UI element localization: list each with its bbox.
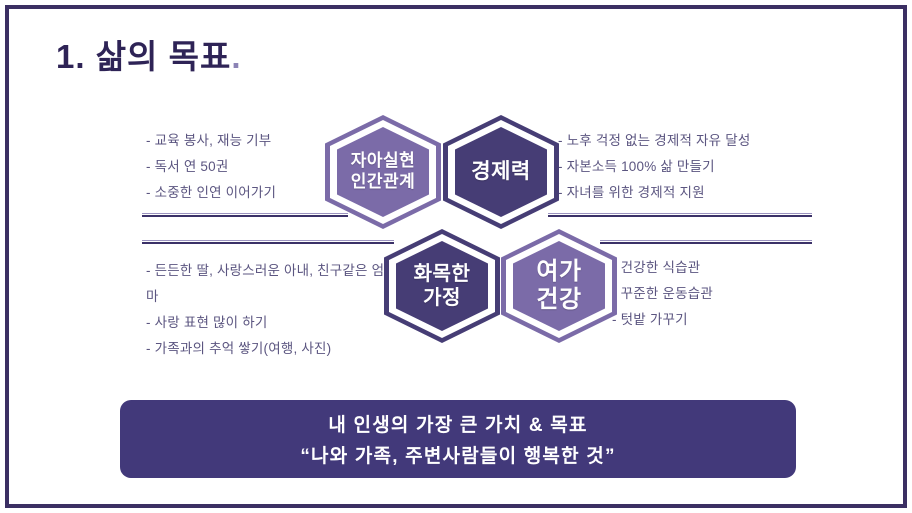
hexagon-inner-ring: 경제력 — [448, 120, 554, 224]
hexagon-label: 자아실현 인간관계 — [351, 151, 416, 192]
page-title-period: . — [231, 38, 241, 75]
hexagon-core: 경제력 — [455, 127, 547, 217]
hexagon-inner-ring: 화목한 가정 — [389, 234, 495, 338]
notes-bottom-right: - 건강한 식습관 - 꾸준한 운동습관 - 텃밭 가꾸기 — [612, 255, 812, 333]
note-line: - 소중한 인연 이어가기 — [146, 180, 346, 206]
hexagon-label: 화목한 가정 — [414, 262, 471, 311]
note-line: - 가족과의 추억 쌓기(여행, 사진) — [146, 336, 396, 362]
hexagon-inner-ring: 여가 건강 — [506, 234, 612, 338]
summary-banner: 내 인생의 가장 큰 가치 & 목표 “나와 가족, 주변사람들이 행복한 것” — [120, 400, 796, 478]
hexagon-economic-power[interactable]: 경제력 — [443, 115, 559, 229]
page-title-text: 1. 삶의 목표 — [56, 38, 231, 75]
note-line: - 교육 봉사, 재능 기부 — [146, 128, 346, 154]
presentation-slide: 1. 삶의 목표. - 교육 봉사, 재능 기부 - 독서 연 50권 - 소중… — [0, 0, 912, 513]
page-title: 1. 삶의 목표. — [56, 30, 241, 78]
hexagon-core: 여가 건강 — [513, 241, 605, 331]
divider-top-right — [548, 213, 812, 217]
hexagon-leisure-health[interactable]: 여가 건강 — [501, 229, 617, 343]
hexagon-core: 화목한 가정 — [396, 241, 488, 331]
note-line: - 든든한 딸, 사랑스러운 아내, 친구같은 엄마 — [146, 258, 396, 310]
summary-line-1: 내 인생의 가장 큰 가치 & 목표 — [328, 410, 587, 437]
hexagon-label: 여가 건강 — [536, 258, 581, 315]
hexagon-core: 자아실현 인간관계 — [337, 127, 429, 217]
hexagon-inner-ring: 자아실현 인간관계 — [330, 120, 436, 224]
divider-bottom-left — [142, 240, 394, 244]
note-line: - 노후 걱정 없는 경제적 자유 달성 — [558, 128, 828, 154]
note-line: - 자본소득 100% 삶 만들기 — [558, 154, 828, 180]
note-line: - 꾸준한 운동습관 — [612, 281, 812, 307]
summary-line-2: “나와 가족, 주변사람들이 행복한 것” — [300, 441, 615, 468]
divider-bottom-right — [600, 240, 812, 244]
note-line: - 자녀를 위한 경제적 지원 — [558, 180, 828, 206]
hexagon-harmonious-family[interactable]: 화목한 가정 — [384, 229, 500, 343]
hexagon-label: 경제력 — [471, 159, 530, 185]
note-line: - 독서 연 50권 — [146, 154, 346, 180]
notes-top-left: - 교육 봉사, 재능 기부 - 독서 연 50권 - 소중한 인연 이어가기 — [146, 128, 346, 206]
notes-bottom-left: - 든든한 딸, 사랑스러운 아내, 친구같은 엄마 - 사랑 표현 많이 하기… — [146, 258, 396, 362]
notes-top-right: - 노후 걱정 없는 경제적 자유 달성 - 자본소득 100% 삶 만들기 -… — [558, 128, 828, 206]
note-line: - 사랑 표현 많이 하기 — [146, 310, 396, 336]
note-line: - 텃밭 가꾸기 — [612, 307, 812, 333]
note-line: - 건강한 식습관 — [612, 255, 812, 281]
divider-top-left — [142, 213, 348, 217]
